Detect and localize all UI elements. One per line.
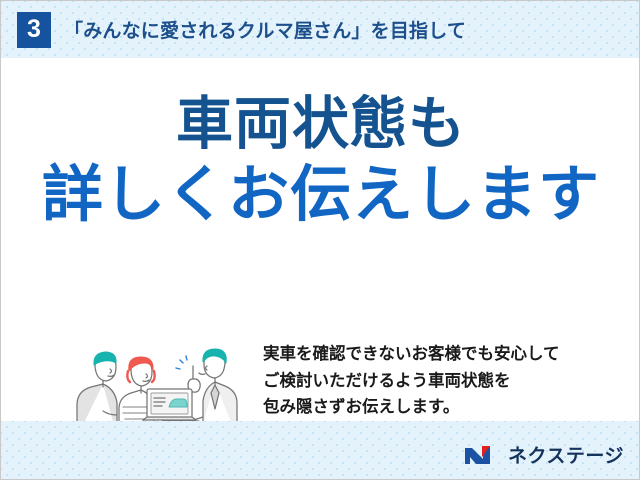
headline-block: 車両状態も 詳しくお伝えします: [1, 94, 640, 227]
body-line-1: 実車を確認できないお客様でも安心して: [263, 341, 623, 368]
step-number-badge: 3: [17, 12, 51, 48]
brand-logo: ネクステージ: [463, 441, 624, 468]
body-line-2: ご検討いただけるよう車両状態を: [263, 368, 623, 395]
footer-band: ネクステージ: [1, 421, 640, 480]
headline-line-1: 車両状態も: [1, 94, 640, 154]
header-band: 3 「みんなに愛されるクルマ屋さん」を目指して: [1, 1, 640, 58]
headline-line-2: 詳しくお伝えします: [1, 162, 640, 227]
nextage-n-logo-icon: [463, 443, 501, 467]
main-stage: 車両状態も 詳しくお伝えします: [1, 58, 640, 421]
promotional-banner: 3 「みんなに愛されるクルマ屋さん」を目指して 車両状態も 詳しくお伝えします: [0, 0, 640, 480]
lower-content-row: 実車を確認できないお客様でも安心して ご検討いただけるよう車両状態を 包み隠さず…: [1, 273, 640, 408]
body-line-3: 包み隠さずお伝えします。: [263, 394, 623, 421]
brand-name: ネクステージ: [508, 441, 624, 468]
header-title: 「みんなに愛されるクルマ屋さん」を目指して: [64, 16, 466, 43]
